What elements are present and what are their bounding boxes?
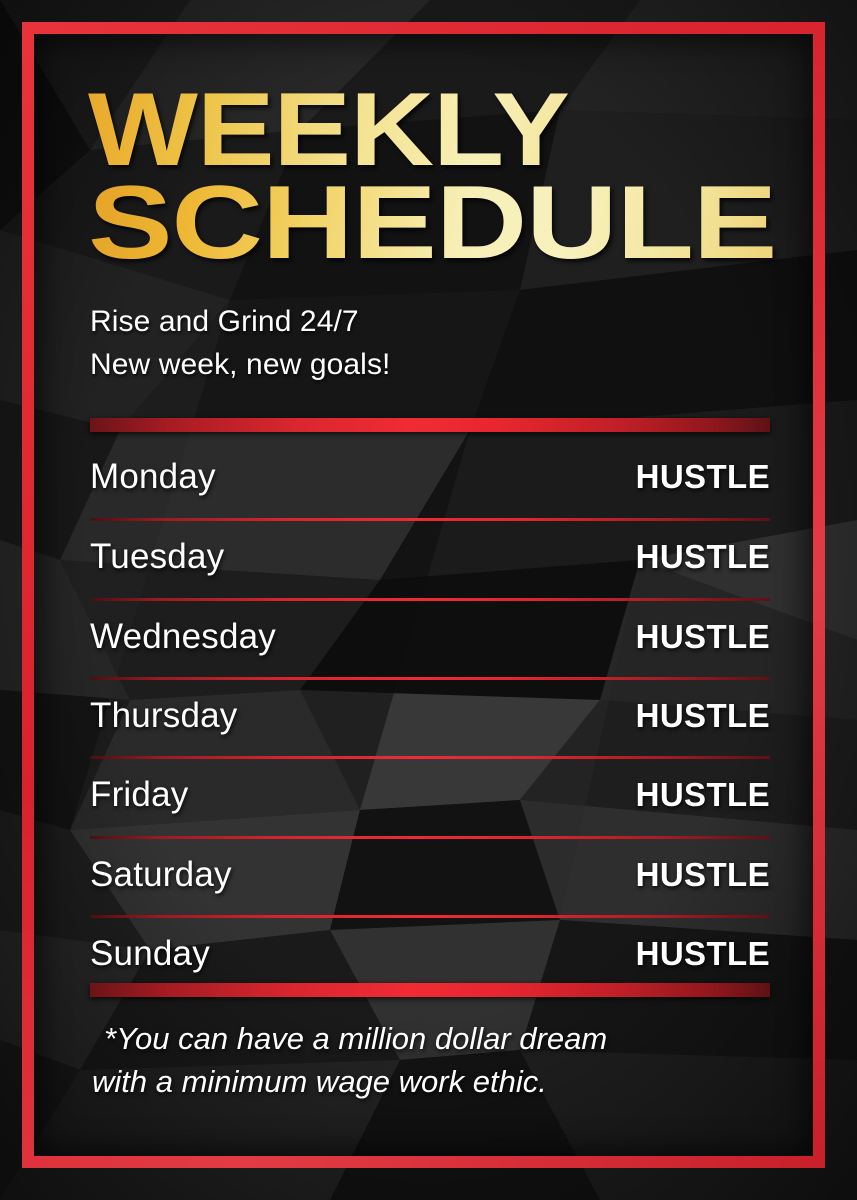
schedule-row-friday[interactable]: Friday HUSTLE [90, 764, 770, 826]
day-label: Saturday [90, 855, 232, 895]
day-label: Tuesday [90, 537, 224, 577]
day-value: HUSTLE [636, 697, 770, 735]
schedule-row-tuesday[interactable]: Tuesday HUSTLE [90, 526, 770, 588]
weekly-schedule-poster: WEEKLY SCHEDULE Rise and Grind 24/7 New … [0, 0, 857, 1200]
schedule-row-thursday[interactable]: Thursday HUSTLE [90, 685, 770, 747]
subtitle: Rise and Grind 24/7 New week, new goals! [90, 300, 390, 386]
day-value: HUSTLE [636, 935, 770, 973]
schedule-row-saturday[interactable]: Saturday HUSTLE [90, 844, 770, 906]
footer-line-1: *You can have a million dollar dream [92, 1017, 792, 1060]
schedule-row-wednesday[interactable]: Wednesday HUSTLE [90, 606, 770, 668]
day-value: HUSTLE [636, 618, 770, 656]
schedule-row-sunday[interactable]: Sunday HUSTLE [90, 923, 770, 985]
day-label: Friday [90, 775, 188, 815]
day-value: HUSTLE [636, 538, 770, 576]
footer-line-2: with a minimum wage work ethic. [92, 1060, 792, 1103]
day-value: HUSTLE [636, 458, 770, 496]
day-label: Wednesday [90, 617, 276, 657]
day-label: Thursday [90, 696, 238, 736]
row-separator [90, 915, 770, 918]
footer-note: *You can have a million dollar dream wit… [92, 1017, 792, 1103]
title-line-schedule: SCHEDULE [88, 179, 857, 268]
day-value: HUSTLE [636, 776, 770, 814]
row-separator [90, 518, 770, 521]
subtitle-line-2: New week, new goals! [90, 343, 390, 386]
subtitle-line-1: Rise and Grind 24/7 [90, 300, 390, 343]
day-label: Sunday [90, 934, 210, 974]
poster-content: WEEKLY SCHEDULE Rise and Grind 24/7 New … [0, 0, 857, 1200]
day-value: HUSTLE [636, 856, 770, 894]
row-separator [90, 598, 770, 601]
row-separator [90, 756, 770, 759]
divider-bar-bottom [90, 983, 770, 997]
title-line-weekly: WEEKLY [88, 86, 857, 175]
day-label: Monday [90, 457, 216, 497]
schedule-row-monday[interactable]: Monday HUSTLE [90, 446, 770, 508]
row-separator [90, 836, 770, 839]
page-title: WEEKLY SCHEDULE [88, 86, 788, 269]
divider-bar-top [90, 418, 770, 432]
row-separator [90, 677, 770, 680]
